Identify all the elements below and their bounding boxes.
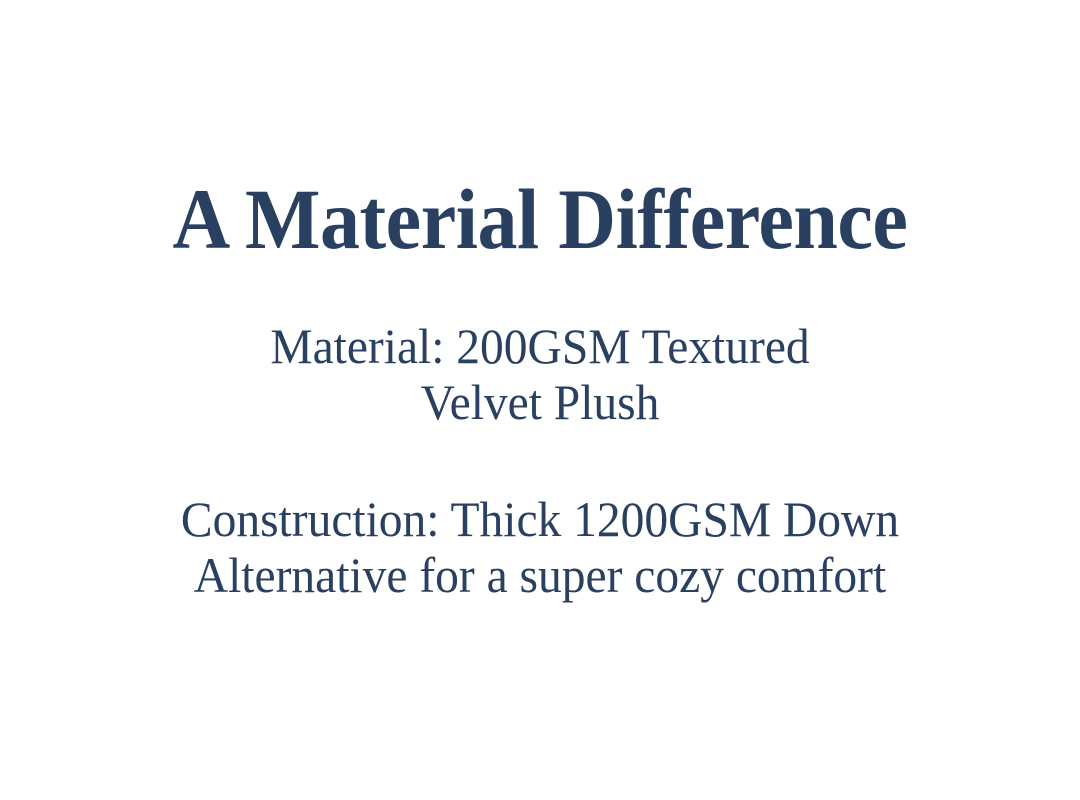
product-detail-slide: A Material Difference Material: 200GSM T… — [0, 0, 1080, 800]
construction-spec-line-1: Construction: Thick 1200GSM Down — [27, 491, 1053, 547]
material-spec-line-2: Velvet Plush — [27, 374, 1053, 430]
construction-spec-line-2: Alternative for a super cozy comfort — [27, 547, 1053, 603]
material-spec-line-1: Material: 200GSM Textured — [27, 318, 1053, 374]
construction-spec-paragraph: Construction: Thick 1200GSM Down Alterna… — [27, 491, 1053, 603]
page-title: A Material Difference — [38, 176, 1042, 262]
material-spec-paragraph: Material: 200GSM Textured Velvet Plush — [27, 318, 1053, 430]
